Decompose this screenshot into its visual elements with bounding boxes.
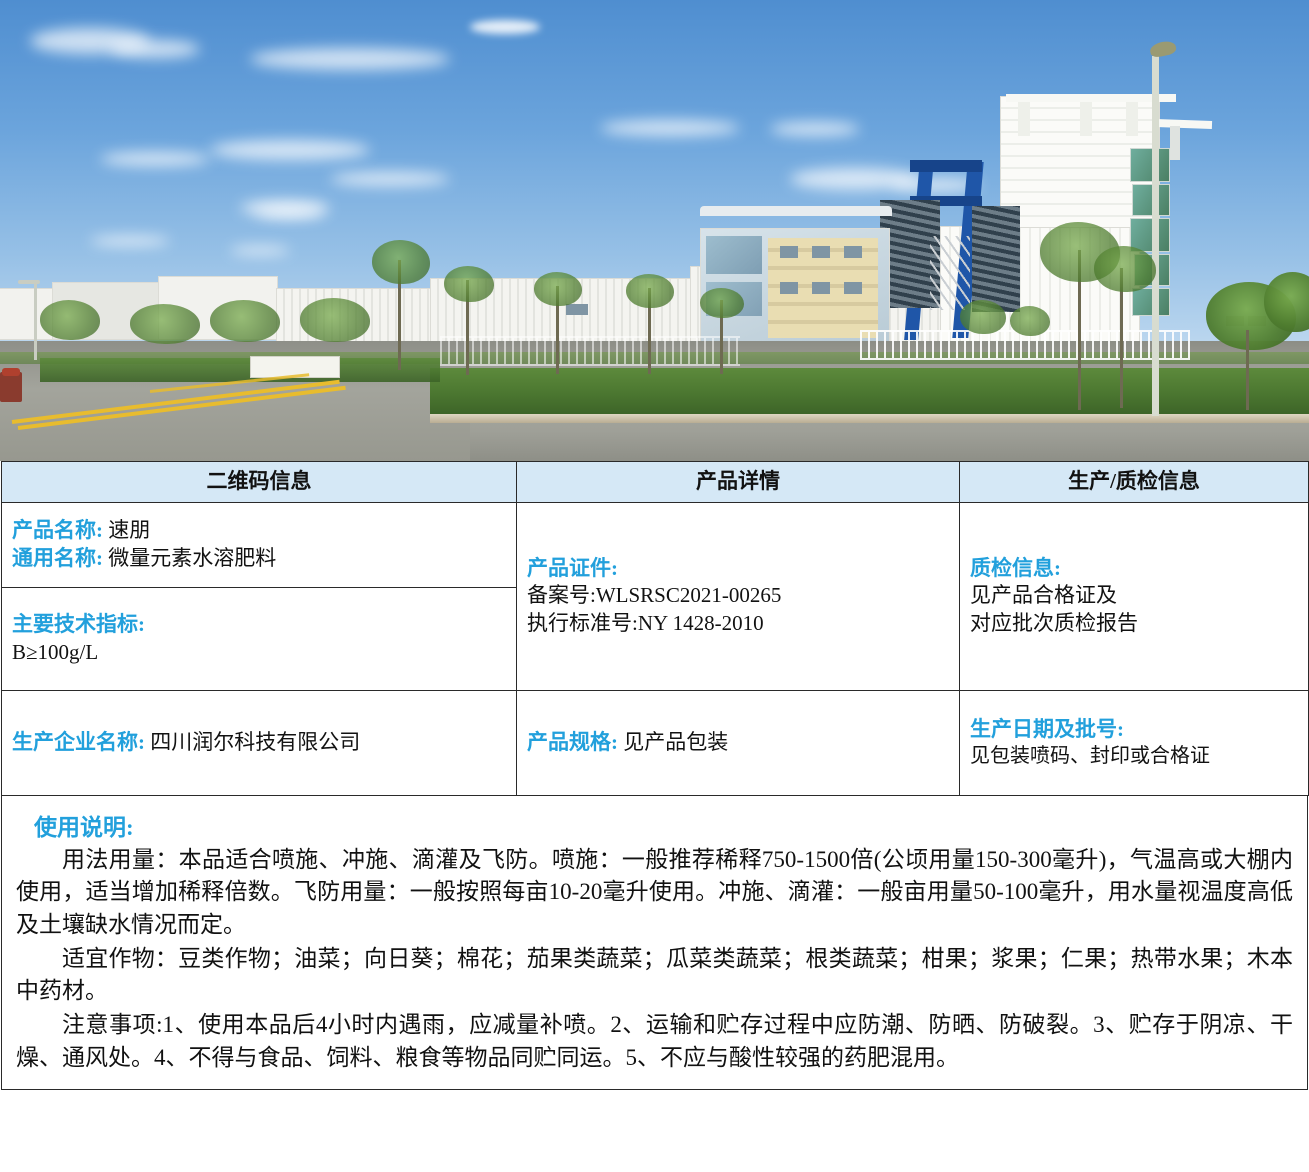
cloud-icon xyxy=(250,48,450,70)
general-name-value: 微量元素水溶肥料 xyxy=(108,546,276,570)
product-label-page: 二维码信息 产品详情 生产/质检信息 产品名称: 速朋 通用名称: 微量元素水溶… xyxy=(0,0,1309,1172)
roof-fin xyxy=(1080,102,1092,136)
street-lamp-pole xyxy=(1152,56,1159,416)
curb xyxy=(430,414,1309,423)
qc-label: 质检信息: xyxy=(970,555,1298,583)
vehicle xyxy=(0,372,22,402)
tree-crown xyxy=(130,304,200,344)
tree-crown xyxy=(626,274,674,308)
certificate-label: 产品证件: xyxy=(527,555,949,583)
cloud-icon xyxy=(210,140,370,160)
tree-crown xyxy=(534,272,582,306)
cell-qc-info: 质检信息: 见产品合格证及 对应批次质检报告 xyxy=(960,502,1309,690)
spec-label: 产品规格: xyxy=(527,730,618,754)
usage-paragraph-dosage: 用法用量：本品适合喷施、冲施、滴灌及飞防。喷施：一般推荐稀释750-1500倍(… xyxy=(16,844,1293,942)
window xyxy=(844,246,862,258)
tree-crown xyxy=(40,300,100,340)
product-name-line: 产品名称: 速朋 xyxy=(12,517,506,545)
batch-label: 生产日期及批号: xyxy=(970,716,1298,744)
qc-line-2: 对应批次质检报告 xyxy=(970,610,1298,638)
glass-panel xyxy=(1130,148,1170,182)
street-lamp-pole-left xyxy=(34,282,37,360)
glass-panel xyxy=(1132,184,1170,216)
factory-photo xyxy=(0,0,1309,461)
fence xyxy=(440,336,740,366)
blue-frame-top xyxy=(910,160,982,172)
roof-fin xyxy=(1170,126,1180,160)
cloud-icon xyxy=(90,236,170,246)
cell-product-names: 产品名称: 速朋 通用名称: 微量元素水溶肥料 xyxy=(2,502,517,587)
tree-crown xyxy=(372,240,430,284)
usage-paragraph-crops: 适宜作物：豆类作物；油菜；向日葵；棉花；茄果类蔬菜；瓜菜类蔬菜；根类蔬菜；柑果；… xyxy=(16,943,1293,1008)
cell-batch: 生产日期及批号: 见包装喷码、封印或合格证 xyxy=(960,690,1309,795)
certificate-line-2: 执行标准号:NY 1428-2010 xyxy=(527,610,949,638)
window xyxy=(780,282,798,294)
roof-canopy-right xyxy=(1156,119,1212,129)
tech-index-label: 主要技术指标: xyxy=(12,611,506,639)
window xyxy=(566,304,588,315)
product-name-label: 产品名称: xyxy=(12,518,103,542)
spec-value: 见产品包装 xyxy=(623,730,728,754)
table-row: 生产企业名称: 四川润尔科技有限公司 产品规格: 见产品包装 生产日期及批号: … xyxy=(2,690,1309,795)
window xyxy=(812,282,830,294)
tree-trunk xyxy=(1246,330,1249,410)
cell-spec: 产品规格: 见产品包装 xyxy=(517,690,960,795)
cloud-icon xyxy=(600,120,740,136)
cloud-icon xyxy=(230,246,290,255)
tree-crown xyxy=(444,266,494,302)
window xyxy=(780,246,798,258)
street-lamp-head xyxy=(1149,39,1177,58)
street-lamp-head-left xyxy=(18,280,40,284)
product-name-value: 速朋 xyxy=(108,518,150,542)
tree-crown xyxy=(210,300,280,342)
tree-crown xyxy=(960,300,1006,334)
louver-facade-right xyxy=(972,206,1020,312)
table-row: 产品名称: 速朋 通用名称: 微量元素水溶肥料 产品证件: 备案号:WLSRSC… xyxy=(2,502,1309,587)
cloud-icon xyxy=(100,152,210,166)
window xyxy=(844,282,862,294)
manufacturer-value: 四川润尔科技有限公司 xyxy=(150,730,360,754)
info-table: 二维码信息 产品详情 生产/质检信息 产品名称: 速朋 通用名称: 微量元素水溶… xyxy=(1,461,1309,796)
tree-crown xyxy=(700,288,744,318)
cell-product-certificate: 产品证件: 备案号:WLSRSC2021-00265 执行标准号:NY 1428… xyxy=(517,502,960,690)
header-production-qc: 生产/质检信息 xyxy=(960,462,1309,503)
tree-crown xyxy=(1010,306,1050,336)
table-header-row: 二维码信息 产品详情 生产/质检信息 xyxy=(2,462,1309,503)
cell-manufacturer: 生产企业名称: 四川润尔科技有限公司 xyxy=(2,690,517,795)
roof-canopy xyxy=(1006,94,1176,102)
header-product-detail: 产品详情 xyxy=(517,462,960,503)
general-name-label: 通用名称: xyxy=(12,546,103,570)
tree-crown xyxy=(1094,246,1156,292)
certificate-line-1: 备案号:WLSRSC2021-00265 xyxy=(527,582,949,610)
usage-paragraph-cautions: 注意事项:1、使用本品后4小时内遇雨，应减量补喷。2、运输和贮存过程中应防潮、防… xyxy=(16,1009,1293,1074)
cell-tech-index: 主要技术指标: B≥100g/L xyxy=(2,587,517,690)
ladder-icon xyxy=(930,236,970,310)
roof-fin xyxy=(1018,102,1030,136)
tree-crown xyxy=(300,298,370,342)
general-name-line: 通用名称: 微量元素水溶肥料 xyxy=(12,545,506,573)
tech-index-value: B≥100g/L xyxy=(12,639,506,667)
hedge-row xyxy=(430,368,1309,416)
roof-fin xyxy=(1126,102,1138,136)
window xyxy=(812,246,830,258)
batch-value: 见包装喷码、封印或合格证 xyxy=(970,743,1298,769)
cloud-icon xyxy=(110,40,200,58)
building-parapet xyxy=(700,206,892,216)
cloud-icon xyxy=(770,122,860,136)
header-qr-info: 二维码信息 xyxy=(2,462,517,503)
qc-line-1: 见产品合格证及 xyxy=(970,582,1298,610)
info-table-wrapper: 二维码信息 产品详情 生产/质检信息 产品名称: 速朋 通用名称: 微量元素水溶… xyxy=(0,461,1309,796)
hedge-row-left xyxy=(40,358,440,382)
cloud-icon xyxy=(470,20,540,34)
usage-title: 使用说明: xyxy=(34,808,1293,842)
manufacturer-label: 生产企业名称: xyxy=(12,730,145,754)
cloud-icon xyxy=(330,172,450,186)
cloud-icon xyxy=(255,208,325,218)
vehicle-top xyxy=(2,368,20,376)
glass-panel xyxy=(706,236,762,274)
usage-instructions-block: 使用说明: 用法用量：本品适合喷施、冲施、滴灌及飞防。喷施：一般推荐稀释750-… xyxy=(1,796,1308,1091)
glass-panel xyxy=(1132,288,1170,316)
